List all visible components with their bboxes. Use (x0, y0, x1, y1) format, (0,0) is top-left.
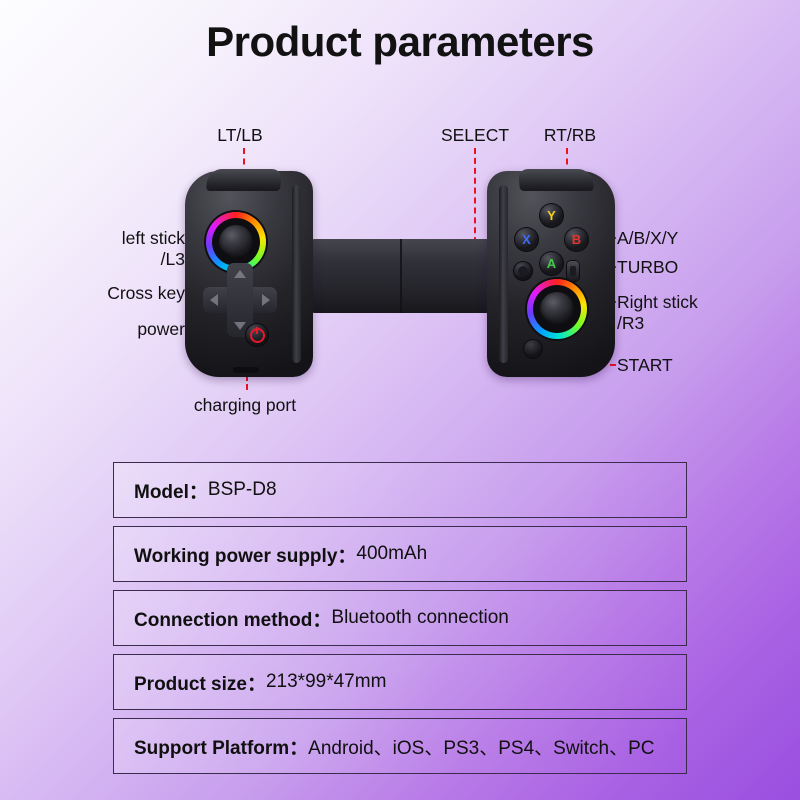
rt-rb-shoulder-button (518, 169, 594, 191)
turbo-button (566, 260, 580, 282)
lt-lb-shoulder-button (206, 169, 282, 191)
callout-label-start: START (617, 355, 792, 376)
page-title: Product parameters (0, 18, 800, 66)
callout-label-lt-lb: LT/LB (150, 125, 330, 146)
spec-value: 400mAh (356, 543, 427, 565)
spec-value: Android、iOS、PS3、PS4、Switch、PC (308, 733, 654, 760)
callout-label-left-stick: left stick /L3 (20, 228, 185, 269)
spec-value: Bluetooth connection (331, 607, 508, 629)
power-button (245, 323, 269, 347)
right-stick (527, 279, 587, 339)
right-grip-rail (499, 185, 508, 363)
face-button-x-label: X (522, 232, 531, 247)
face-button-y: Y (539, 203, 564, 228)
controller-left-grip (185, 171, 313, 377)
face-button-a-label: A (547, 256, 556, 271)
table-row: Working power supply： 400mAh (113, 526, 687, 582)
select-button (513, 261, 533, 281)
spec-table: Model： BSP-D8 Working power supply： 400m… (113, 462, 687, 774)
spec-value: BSP-D8 (208, 479, 277, 501)
callout-label-charging-port: charging port (160, 395, 330, 416)
callout-label-power: power (20, 319, 185, 340)
table-row: Product size： 213*99*47mm (113, 654, 687, 710)
face-button-b-label: B (572, 232, 581, 247)
spec-key: Model： (134, 477, 208, 504)
callout-label-right-stick: Right stick /R3 (617, 292, 797, 333)
face-button-y-label: Y (547, 208, 556, 223)
infographic-page: Product parameters LT/LB SELECT RT/RB le… (0, 0, 800, 800)
callout-label-rt-rb: RT/RB (495, 125, 645, 146)
left-grip-rail (292, 185, 301, 363)
table-row: Support Platform： Android、iOS、PS3、PS4、Sw… (113, 718, 687, 774)
spec-key: Support Platform： (134, 733, 308, 760)
spec-value: 213*99*47mm (266, 671, 386, 693)
face-button-a: A (539, 251, 564, 276)
controller-bridge-seam (400, 239, 402, 313)
controller-right-grip: Y X B A (487, 171, 615, 377)
dpad-up-arrow-icon (234, 270, 246, 278)
face-button-x: X (514, 227, 539, 252)
cross-key-dpad (203, 263, 277, 337)
dpad-down-arrow-icon (234, 322, 246, 330)
start-button (523, 339, 543, 359)
charging-port (233, 367, 259, 373)
table-row: Connection method： Bluetooth connection (113, 590, 687, 646)
spec-key: Connection method： (134, 605, 331, 632)
power-icon (250, 328, 265, 343)
table-row: Model： BSP-D8 (113, 462, 687, 518)
callout-label-cross-key: Cross key (20, 283, 185, 304)
spec-key: Product size： (134, 669, 266, 696)
left-stick-cap (219, 225, 253, 259)
callout-label-abxy: A/B/X/Y (617, 228, 792, 249)
right-stick-cap (540, 292, 574, 326)
face-button-b: B (564, 227, 589, 252)
controller-illustration: Y X B A (185, 163, 615, 385)
callout-label-turbo: TURBO (617, 257, 792, 278)
spec-key: Working power supply： (134, 541, 356, 568)
dpad-left-arrow-icon (210, 294, 218, 306)
dpad-right-arrow-icon (262, 294, 270, 306)
